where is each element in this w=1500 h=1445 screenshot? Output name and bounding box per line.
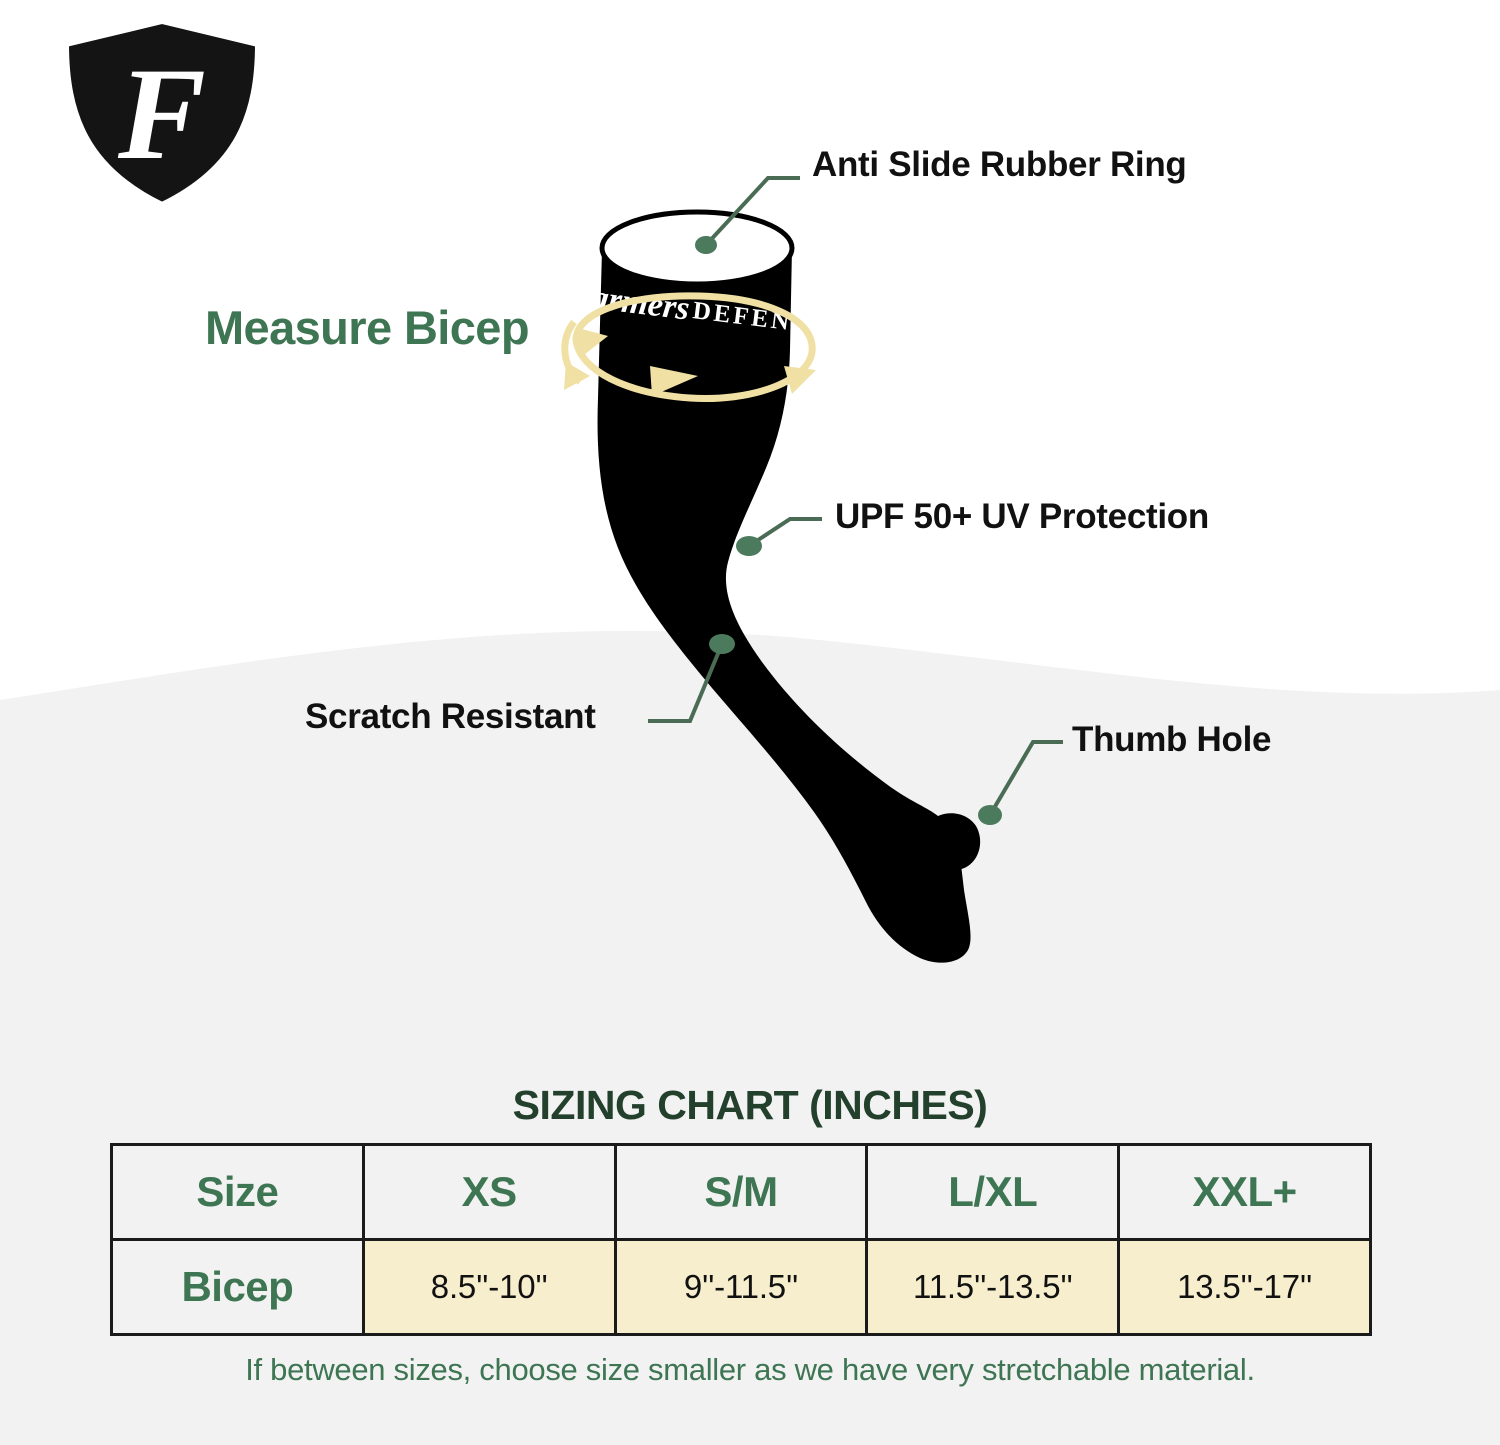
callout-label-thumb-hole: Thumb Hole — [1072, 720, 1271, 760]
header-cell-xs: XS — [363, 1145, 615, 1240]
header-cell-lxl: L/XL — [867, 1145, 1119, 1240]
header-cell-sm: S/M — [615, 1145, 867, 1240]
row-label-bicep: Bicep — [112, 1240, 364, 1335]
value-cell-bicep-xs: 8.5''-10'' — [363, 1240, 615, 1335]
sizing-guide-page: F Farmers DEFENSE — [0, 0, 1500, 1445]
sizing-chart-table: Size XS S/M L/XL XXL+ Bicep 8.5''-10'' 9… — [110, 1143, 1372, 1336]
shield-logo-icon: F — [62, 18, 262, 208]
sizing-chart-title: SIZING CHART (INCHES) — [0, 1082, 1500, 1129]
sizing-chart-note: If between sizes, choose size smaller as… — [0, 1352, 1500, 1388]
arm-sleeve-illustration: Farmers DEFENSE — [540, 190, 1100, 980]
header-cell-xxl: XXL+ — [1119, 1145, 1371, 1240]
measure-bicep-label: Measure Bicep — [205, 300, 529, 355]
callout-label-scratch-resistant: Scratch Resistant — [305, 697, 596, 737]
callout-label-anti-slide-rubber-ring: Anti Slide Rubber Ring — [812, 145, 1187, 185]
header-cell-size: Size — [112, 1145, 364, 1240]
value-cell-bicep-xxl: 13.5''-17'' — [1119, 1240, 1371, 1335]
logo-letter: F — [117, 40, 206, 187]
table-header-row: Size XS S/M L/XL XXL+ — [112, 1145, 1371, 1240]
value-cell-bicep-lxl: 11.5''-13.5'' — [867, 1240, 1119, 1335]
callout-label-upf-protection: UPF 50+ UV Protection — [835, 497, 1209, 537]
rubber-ring-opening — [602, 212, 792, 284]
table-row: Bicep 8.5''-10'' 9''-11.5'' 11.5''-13.5'… — [112, 1240, 1371, 1335]
value-cell-bicep-sm: 9''-11.5'' — [615, 1240, 867, 1335]
